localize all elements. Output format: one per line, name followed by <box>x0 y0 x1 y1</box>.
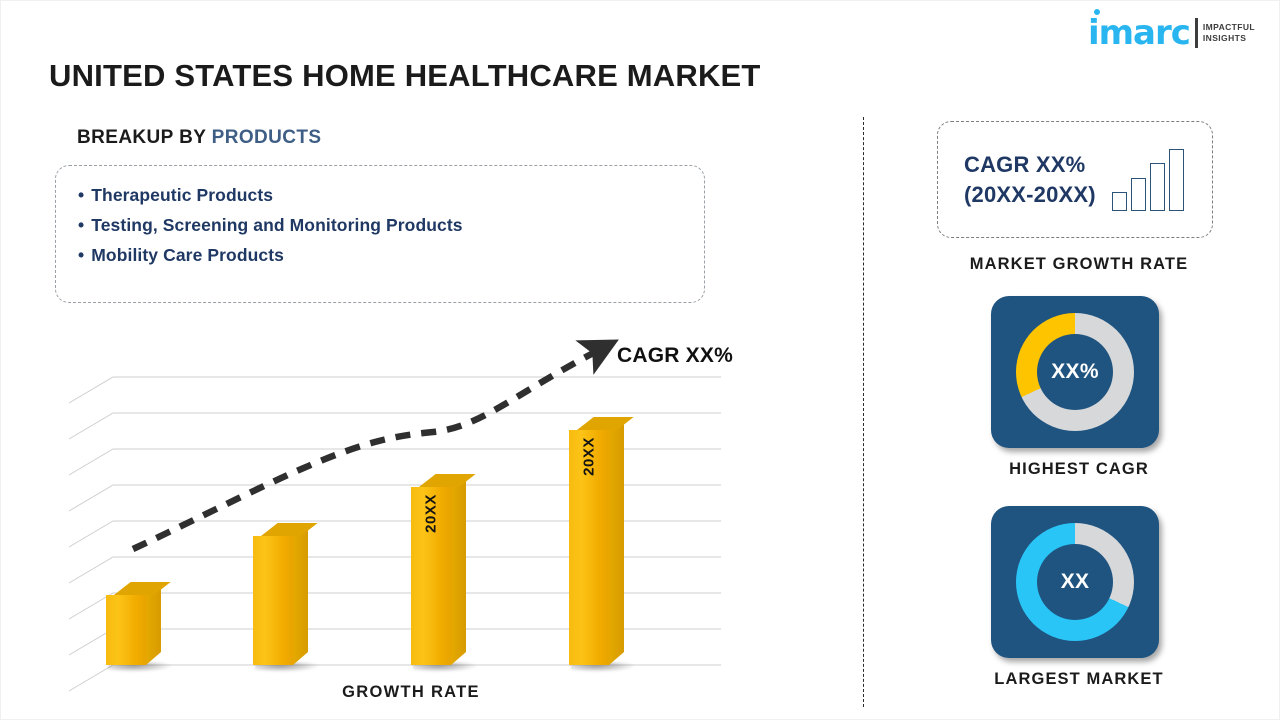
market-growth-rate-card: CAGR XX% (20XX-20XX) <box>937 121 1213 238</box>
list-item: • Testing, Screening and Monitoring Prod… <box>78 210 704 240</box>
chart-bars: 20XX20XX <box>61 331 761 701</box>
logo-wordmark-text: imarc <box>1088 13 1190 53</box>
bar-top-face <box>114 582 171 595</box>
logo-tagline-line2: INSIGHTS <box>1203 33 1255 44</box>
largest-market-value: XX <box>1016 523 1134 641</box>
bullet-icon: • <box>78 180 84 210</box>
cagr-line-2: (20XX-20XX) <box>964 180 1096 210</box>
highest-cagr-donut: XX% <box>1016 313 1134 431</box>
bar-2 <box>253 536 309 665</box>
bar-side-face <box>609 417 624 665</box>
list-item: • Mobility Care Products <box>78 240 704 270</box>
page-title: UNITED STATES HOME HEALTHCARE MARKET <box>49 58 761 94</box>
products-list-box: • Therapeutic Products • Testing, Screen… <box>55 165 705 303</box>
bar-4: 20XX <box>569 430 625 665</box>
imarc-logo: imarc IMPACTFUL INSIGHTS <box>1088 11 1255 55</box>
infographic-page: imarc IMPACTFUL INSIGHTS UNITED STATES H… <box>0 0 1280 720</box>
list-item-label: Therapeutic Products <box>91 180 273 210</box>
bar-chart-icon <box>1112 149 1184 211</box>
breakup-prefix: BREAKUP BY <box>77 127 206 148</box>
bar-front-face <box>106 595 146 665</box>
highest-cagr-value: XX% <box>1016 313 1134 431</box>
largest-market-donut: XX <box>1016 523 1134 641</box>
bar-3: 20XX <box>411 487 467 665</box>
bullet-icon: • <box>78 210 84 240</box>
bar-label: 20XX <box>581 427 598 487</box>
largest-market-label: LARGEST MARKET <box>929 670 1229 689</box>
logo-wordmark: imarc <box>1088 18 1190 48</box>
breakup-heading: BREAKUP BY PRODUCTS <box>77 127 321 149</box>
breakup-accent: PRODUCTS <box>212 127 322 148</box>
market-growth-rate-label: MARKET GROWTH RATE <box>929 255 1229 274</box>
chart-cagr-annotation: CAGR XX% <box>617 344 733 368</box>
logo-divider <box>1195 18 1198 48</box>
bar-label: 20XX <box>423 484 440 544</box>
cagr-text: CAGR XX% (20XX-20XX) <box>964 150 1096 210</box>
logo-tagline-line1: IMPACTFUL <box>1203 22 1255 33</box>
list-item-label: Mobility Care Products <box>91 240 284 270</box>
highest-cagr-card: XX% <box>991 296 1159 448</box>
bar-1 <box>106 595 162 665</box>
bar-side-face <box>293 523 308 665</box>
bar-side-face <box>451 474 466 665</box>
bullet-icon: • <box>78 240 84 270</box>
section-divider <box>863 117 864 707</box>
growth-rate-chart: 20XX20XX CAGR XX% GROWTH RATE <box>61 331 761 701</box>
logo-tagline: IMPACTFUL INSIGHTS <box>1203 22 1255 44</box>
highest-cagr-label: HIGHEST CAGR <box>929 460 1229 479</box>
list-item: • Therapeutic Products <box>78 180 704 210</box>
bar-top-face <box>261 523 318 536</box>
logo-dot-icon <box>1094 9 1100 15</box>
bar-front-face <box>253 536 293 665</box>
cagr-line-1: CAGR XX% <box>964 150 1096 180</box>
largest-market-card: XX <box>991 506 1159 658</box>
chart-x-axis-label: GROWTH RATE <box>61 683 761 702</box>
list-item-label: Testing, Screening and Monitoring Produc… <box>91 210 462 240</box>
